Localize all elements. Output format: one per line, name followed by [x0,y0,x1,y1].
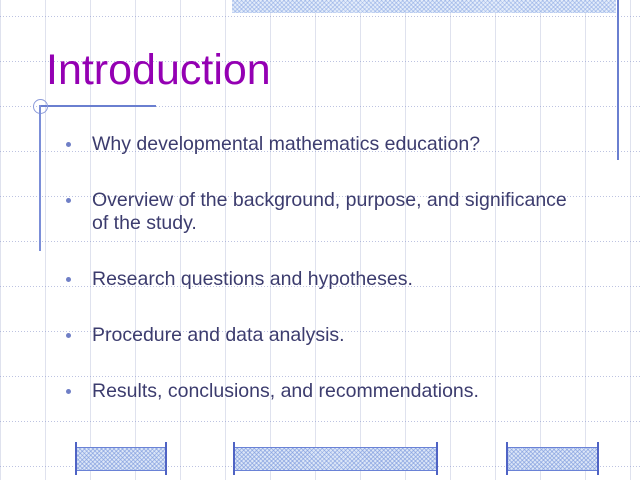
left-accent-rule [39,105,41,251]
list-item-label: Why developmental mathematics education? [92,133,580,156]
circle-motif-icon [33,99,48,114]
bottom-band-tick [506,442,508,475]
bottom-band-tick [597,442,599,475]
bullet-dot-icon [66,389,71,394]
bullet-list: Why developmental mathematics education?… [60,133,580,403]
list-item: Procedure and data analysis. [60,324,580,347]
bullet-dot-icon [66,277,71,282]
bottom-hatched-band-1 [75,447,166,471]
list-item-label: Results, conclusions, and recommendation… [92,380,580,403]
title-underline-rule [40,105,156,107]
bullet-dot-icon [66,333,71,338]
list-item-label: Research questions and hypotheses. [92,268,580,291]
bottom-band-tick [165,442,167,475]
bottom-hatched-band-2 [233,447,437,471]
bullet-dot-icon [66,198,71,203]
list-item-label: Overview of the background, purpose, and… [92,189,580,235]
list-item: Overview of the background, purpose, and… [60,189,580,235]
top-hatched-band [232,0,616,13]
bottom-hatched-band-3 [506,447,598,471]
right-accent-rule [617,0,619,160]
list-item-label: Procedure and data analysis. [92,324,580,347]
slide-canvas: Introduction Why developmental mathemati… [0,0,640,480]
list-item: Results, conclusions, and recommendation… [60,380,580,403]
bottom-band-tick [75,442,77,475]
bottom-band-tick [436,442,438,475]
bullet-dot-icon [66,142,71,147]
page-title: Introduction [46,46,271,94]
list-item: Research questions and hypotheses. [60,268,580,291]
list-item: Why developmental mathematics education? [60,133,580,156]
bottom-band-tick [233,442,235,475]
